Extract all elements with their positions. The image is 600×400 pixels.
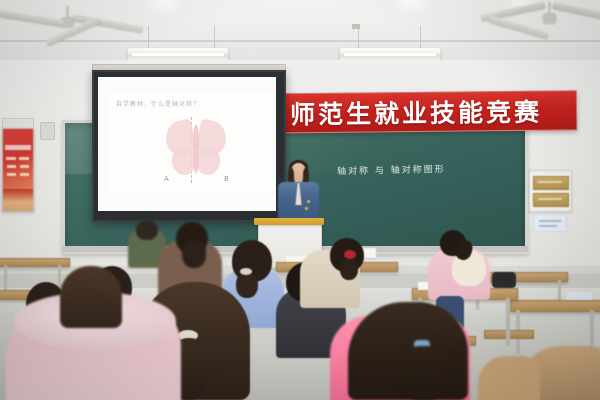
desk-leg [506,298,510,346]
audience-ponytail-foreground [396,346,452,400]
student-desk [510,300,600,312]
desk-bag [492,272,516,288]
audience-shoulder [478,356,540,400]
jacket-badge [305,207,308,210]
desk-item-blue [566,292,592,300]
classroom-photo: 轴对称 与 轴对称图形 师范生就业技能竞赛 自学教材，什么是轴对称？ A B [0,0,600,400]
podium-top [254,218,324,225]
audience-ponytail [236,272,258,298]
audience-head [60,266,122,328]
audience-head [136,220,158,240]
jacket-badge [307,200,310,203]
audience-hair-tie [240,268,252,275]
audience-ponytail [340,258,358,280]
audience-hair [182,240,206,268]
audience-red-hair-tie [344,250,356,259]
